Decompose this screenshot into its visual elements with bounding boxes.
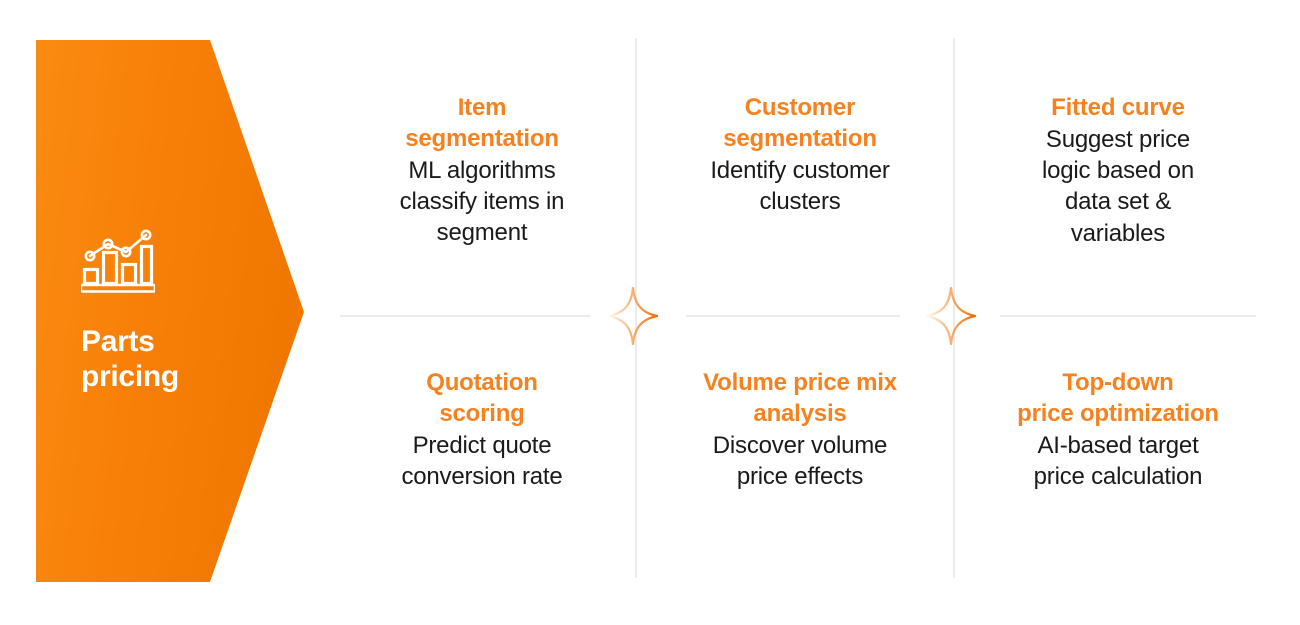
horizontal-divider-3 xyxy=(1000,315,1256,317)
cell-description: AI-based target price calculation xyxy=(1034,430,1203,492)
cell-description: Identify customer clusters xyxy=(710,155,889,217)
cell-title: Item segmentation xyxy=(405,93,559,155)
cell-volume-price-mix-analysis: Volume price mix analysis Discover volum… xyxy=(656,368,944,568)
cell-description: ML algorithms classify items in segment xyxy=(400,155,565,249)
cell-title: Fitted curve xyxy=(1051,93,1185,124)
cell-title: Top-down price optimization xyxy=(1017,368,1219,430)
cell-description: Suggest price logic based on data set & … xyxy=(1042,124,1194,249)
cell-top-down-price-optimization: Top-down price optimization AI-based tar… xyxy=(974,368,1262,568)
horizontal-divider-1 xyxy=(340,315,590,317)
cell-fitted-curve: Fitted curve Suggest price logic based o… xyxy=(974,93,1262,313)
horizontal-divider-2 xyxy=(686,315,900,317)
parts-pricing-banner: Parts pricing xyxy=(36,40,304,582)
cell-description: Predict quote conversion rate xyxy=(401,430,562,492)
cell-item-segmentation: Item segmentation ML algorithms classify… xyxy=(338,93,626,313)
capability-grid: Item segmentation ML algorithms classify… xyxy=(338,38,1262,578)
cell-quotation-scoring: Quotation scoring Predict quote conversi… xyxy=(338,368,626,568)
cell-title: Customer segmentation xyxy=(723,93,877,155)
cell-description: Discover volume price effects xyxy=(713,430,887,492)
cell-customer-segmentation: Customer segmentation Identify customer … xyxy=(656,93,944,313)
banner-content: Parts pricing xyxy=(36,40,221,582)
bar-chart-line-icon xyxy=(81,228,155,294)
cell-title: Quotation scoring xyxy=(426,368,538,430)
cell-title: Volume price mix analysis xyxy=(703,368,897,430)
banner-title: Parts pricing xyxy=(81,324,179,395)
infographic-canvas: Parts pricing xyxy=(0,0,1300,625)
